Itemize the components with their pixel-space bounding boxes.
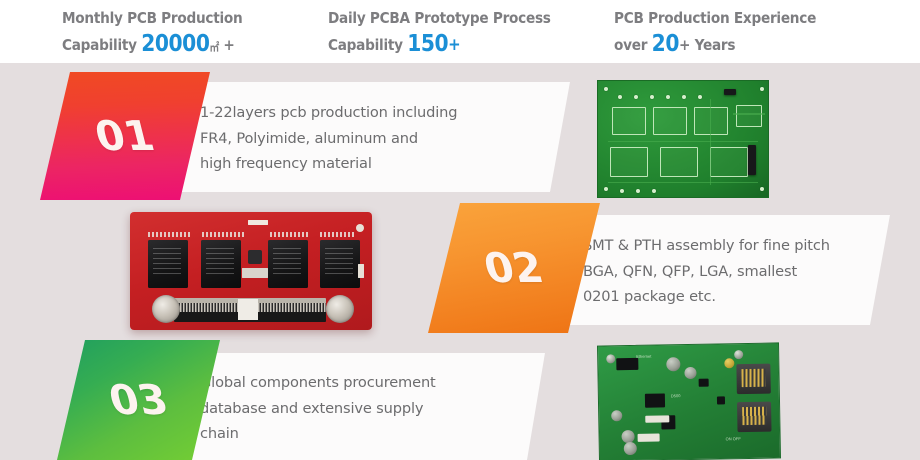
feature-number-02: 02 [479, 244, 548, 292]
infographic-root: Monthly PCB Production Capability 20000㎡… [0, 0, 920, 460]
red-memory-module-photo [130, 212, 372, 330]
stat-value: 150 [407, 31, 448, 57]
green-populated-board-photo: Ethernet D500 ON OFF [597, 342, 781, 460]
stat-monthly-pcb-production: Monthly PCB Production Capability 20000㎡… [62, 5, 267, 61]
feature-text-01: 1-22layers pcb production including FR4,… [200, 100, 550, 177]
feature-number-03: 03 [104, 376, 173, 424]
stat-suffix: + [448, 35, 460, 55]
green-bare-pcb-photo [597, 80, 769, 198]
feature-row-03: Global components procurement database a… [0, 340, 920, 460]
stat-pcb-production-experience: PCB Production Experience over 20+ Years [614, 5, 844, 58]
feature-row-01: 1-22layers pcb production including FR4,… [0, 72, 920, 200]
stat-line-1: PCB Production Experience [614, 5, 816, 31]
stat-line-1: Daily PCBA Prototype Process [328, 5, 551, 31]
stat-value: 20000 [141, 31, 209, 57]
stat-line-2: Capability 20000㎡ + [62, 31, 242, 61]
feature-number-badge-03: 03 [57, 340, 220, 460]
feature-number-01: 01 [90, 112, 159, 160]
stat-value: 20 [652, 31, 679, 57]
stat-daily-pcba-prototype: Daily PCBA Prototype Process Capability … [328, 5, 581, 58]
stat-line-2: over 20+ Years [614, 31, 816, 58]
feature-text-03: Global components procurement database a… [200, 370, 530, 447]
stat-prefix: Capability [328, 36, 407, 54]
stat-prefix: over [614, 36, 652, 54]
stat-line-2: Capability 150+ [328, 31, 551, 58]
stat-prefix: Capability [62, 36, 141, 54]
header-stats-band: Monthly PCB Production Capability 20000㎡… [0, 0, 920, 63]
stat-unit: ㎡ [209, 41, 218, 54]
feature-number-badge-01: 01 [40, 72, 210, 200]
feature-text-02: SMT & PTH assembly for fine pitch BGA, Q… [583, 233, 883, 310]
stat-line-1: Monthly PCB Production [62, 5, 242, 31]
stat-suffix: + [219, 36, 235, 54]
stat-suffix: + Years [679, 36, 735, 54]
